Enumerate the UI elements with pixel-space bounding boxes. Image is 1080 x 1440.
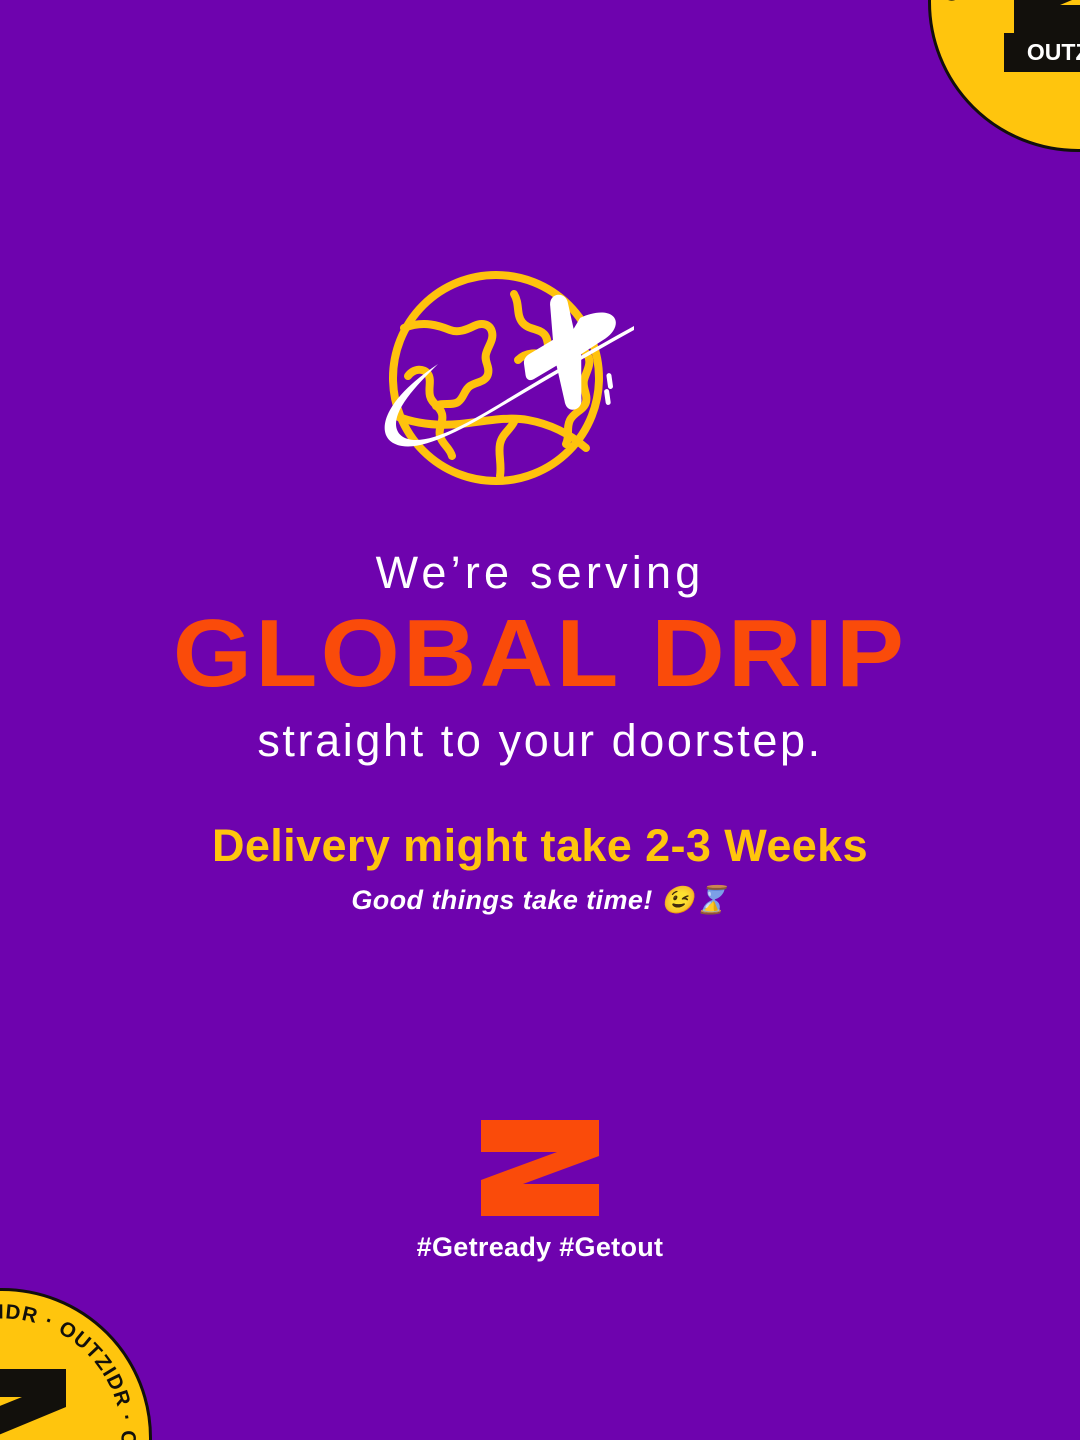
outzidr-sticker-top-right: OUTZIDR · OUTZIDR · OUTZIDR · OUTZIDR · … — [928, 0, 1080, 152]
headline-line-2: GLOBAL DRIP — [0, 604, 1080, 705]
headline-line-3: straight to your doorstep. — [0, 715, 1080, 767]
outzidr-z-logo — [0, 1118, 1080, 1218]
badge-wordmark-top-right: OUTZIDR — [1004, 33, 1080, 72]
z-logo-glyph — [0, 1363, 86, 1440]
badge-core-bottom-left: OUTZIDR — [0, 1363, 86, 1440]
delivery-subtext: Good things take time! 😉⌛ — [0, 884, 1080, 916]
footer-hashtags: #Getready #Getout — [0, 1232, 1080, 1263]
headline-line-1: We’re serving — [0, 548, 1080, 598]
poster-canvas: OUTZIDR · OUTZIDR · OUTZIDR · OUTZIDR · … — [0, 0, 1080, 1440]
delivery-note-block: Delivery might take 2-3 Weeks Good thing… — [0, 820, 1080, 916]
badge-core-top-right: OUTZIDR — [994, 0, 1080, 77]
hero-illustration — [0, 268, 1080, 504]
delivery-estimate-text: Delivery might take 2-3 Weeks — [0, 820, 1080, 872]
footer-block: #Getready #Getout — [0, 1118, 1080, 1263]
headline-block: We’re serving GLOBAL DRIP straight to yo… — [0, 548, 1080, 767]
outzidr-sticker-bottom-left: OUTZIDR · OUTZIDR · OUTZIDR · OUTZIDR · … — [0, 1288, 152, 1440]
badge-wordmark-label: OUTZIDR — [1027, 39, 1080, 65]
